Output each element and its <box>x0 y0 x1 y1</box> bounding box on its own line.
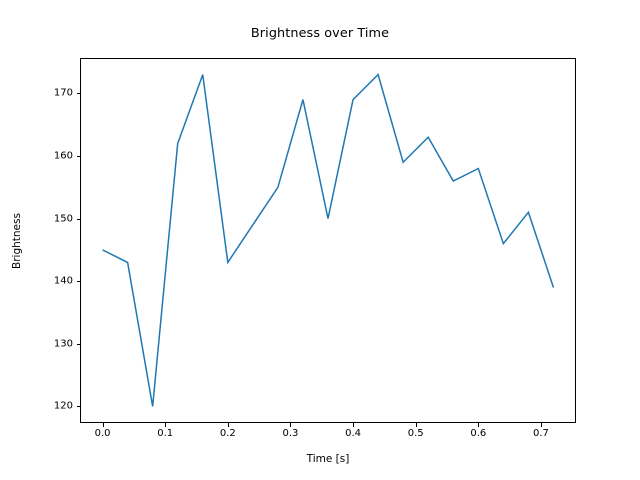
x-tick-mark <box>353 423 354 427</box>
figure-canvas: Brightness over Time Brightness 12013014… <box>0 0 640 480</box>
y-axis-label: Brightness <box>10 58 24 423</box>
y-tick-label: 120 <box>54 401 73 412</box>
x-tick-mark <box>228 423 229 427</box>
x-tick-label: 0.5 <box>408 428 424 439</box>
x-tick-mark <box>103 423 104 427</box>
x-tick-mark <box>478 423 479 427</box>
plot-area <box>80 58 576 423</box>
y-tick-label: 160 <box>54 150 73 161</box>
y-tick-label: 140 <box>54 276 73 287</box>
x-tick-mark <box>290 423 291 427</box>
x-axis-label: Time [s] <box>80 453 576 465</box>
x-tick-mark <box>541 423 542 427</box>
x-tick-label: 0.1 <box>157 428 173 439</box>
x-tick-label: 0.4 <box>345 428 361 439</box>
x-tick-label: 0.2 <box>220 428 236 439</box>
y-tick-mark <box>77 156 81 157</box>
y-tick-label: 170 <box>54 88 73 99</box>
y-tick-mark <box>77 281 81 282</box>
x-tick-label: 0.3 <box>282 428 298 439</box>
y-tick-mark <box>77 219 81 220</box>
page-title: Brightness over Time <box>0 26 640 41</box>
x-axis-tick-labels: 0.00.10.20.30.40.50.60.7 <box>80 428 576 442</box>
y-axis-tick-labels: 120130140150160170 <box>40 58 73 423</box>
y-tick-label: 130 <box>54 338 73 349</box>
y-tick-mark <box>77 344 81 345</box>
y-axis-label-text: Brightness <box>11 213 23 269</box>
x-tick-mark <box>416 423 417 427</box>
x-tick-label: 0.7 <box>533 428 549 439</box>
y-tick-label: 150 <box>54 213 73 224</box>
y-tick-mark <box>77 93 81 94</box>
brightness-line-series <box>103 75 554 407</box>
y-tick-mark <box>77 406 81 407</box>
x-tick-label: 0.0 <box>95 428 111 439</box>
x-tick-mark <box>165 423 166 427</box>
data-series-svg <box>80 58 576 423</box>
x-tick-label: 0.6 <box>470 428 486 439</box>
